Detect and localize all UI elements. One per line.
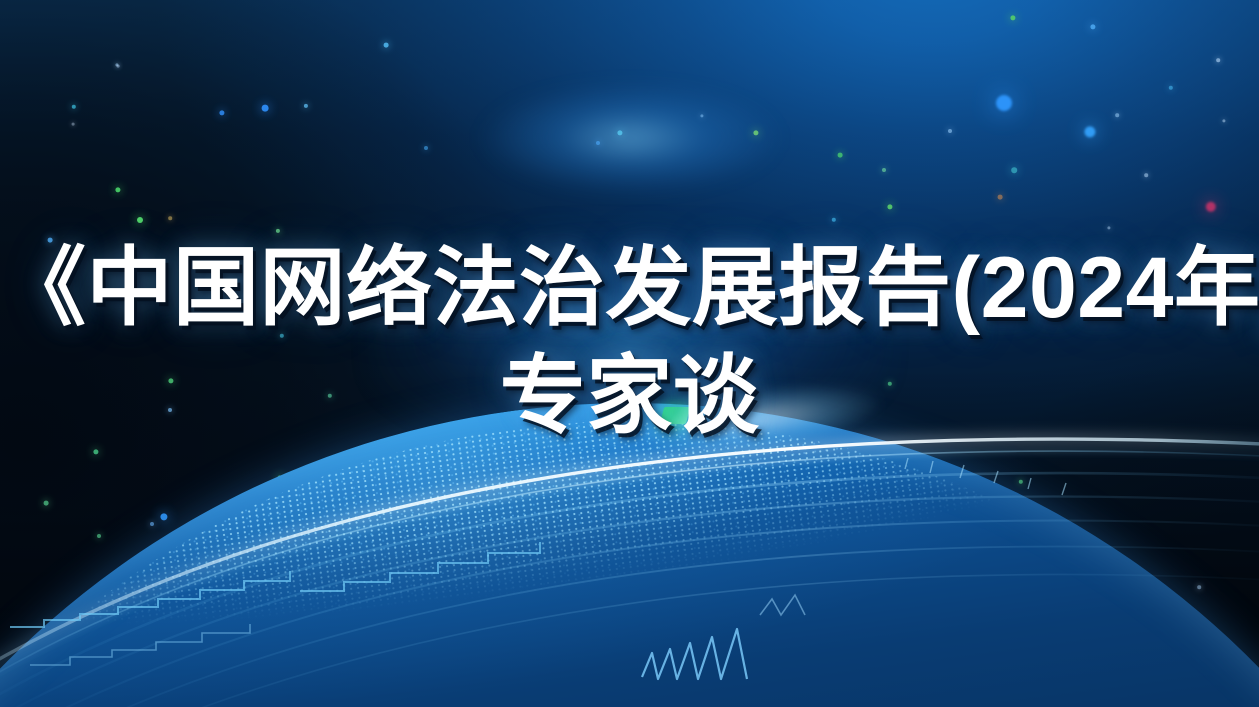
particle-dot bbox=[1010, 15, 1015, 20]
particle-dot bbox=[832, 218, 836, 222]
particle-dot bbox=[1222, 119, 1225, 122]
particle-dot bbox=[304, 104, 308, 108]
particle-dot bbox=[117, 65, 120, 68]
particle-dot bbox=[1206, 202, 1216, 212]
title-line-primary: 《中国网络法治发展报告(2024年)》 bbox=[0, 245, 1259, 331]
particle-dot bbox=[1144, 173, 1148, 177]
particle-dot bbox=[276, 229, 280, 233]
particle-dot bbox=[168, 216, 172, 220]
particle-dot bbox=[115, 187, 120, 192]
particle-dot bbox=[998, 195, 1003, 200]
particle-dot bbox=[1107, 226, 1110, 229]
particle-dot bbox=[262, 105, 269, 112]
particle-dot bbox=[996, 95, 1012, 111]
particle-dot bbox=[137, 217, 143, 223]
particle-dot bbox=[882, 168, 886, 172]
particle-dot bbox=[948, 129, 952, 133]
particle-dot bbox=[887, 204, 892, 209]
particle-dot bbox=[1011, 167, 1017, 173]
particle-dot bbox=[1115, 113, 1119, 117]
particle-dot bbox=[1090, 24, 1095, 29]
particle-dot bbox=[838, 153, 843, 158]
title-line-secondary: 专家谈 bbox=[0, 353, 1259, 439]
title-card-poster: 《中国网络法治发展报告(2024年)》 专家谈 bbox=[0, 0, 1259, 707]
particle-dot bbox=[72, 105, 76, 109]
poster-title: 《中国网络法治发展报告(2024年)》 专家谈 bbox=[0, 245, 1259, 439]
particle-dot bbox=[1084, 126, 1095, 137]
particle-dot bbox=[219, 110, 224, 115]
particle-dot bbox=[1216, 58, 1220, 62]
particle-dot bbox=[72, 123, 75, 126]
particle-dot bbox=[424, 146, 428, 150]
particle-dot bbox=[384, 43, 389, 48]
title-backlight bbox=[480, 83, 780, 193]
particle-dot bbox=[1169, 86, 1173, 90]
